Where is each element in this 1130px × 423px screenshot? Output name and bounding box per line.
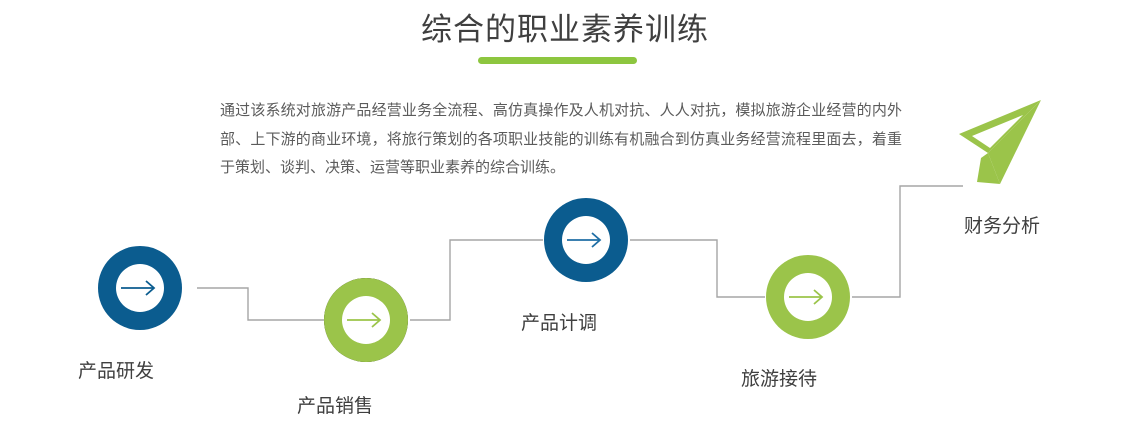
- flow-node-product-sales[interactable]: [324, 278, 408, 362]
- arrow-right-icon: [324, 278, 408, 362]
- flow-node-label-product-sales: 产品销售: [297, 394, 373, 418]
- flow-node-product-rd[interactable]: [98, 246, 182, 330]
- arrow-right-icon: [766, 255, 850, 339]
- connector-2-to-3: [410, 240, 543, 320]
- flow-node-financial-analysis[interactable]: [955, 96, 1051, 188]
- flow-node-product-planning[interactable]: [544, 198, 628, 282]
- flow-node-label-tour-reception: 旅游接待: [741, 367, 817, 391]
- connector-4-to-5: [852, 186, 963, 297]
- flow-node-label-financial-analysis: 财务分析: [964, 214, 1040, 238]
- process-flow-diagram: 产品研发 产品销售: [0, 0, 1130, 423]
- flow-node-label-product-planning: 产品计调: [521, 311, 597, 335]
- flow-node-label-product-rd: 产品研发: [78, 359, 154, 383]
- arrow-right-icon: [544, 198, 628, 282]
- arrow-right-icon: [98, 246, 182, 330]
- connector-3-to-4: [630, 240, 765, 297]
- paper-plane-icon: [955, 96, 1051, 188]
- flow-node-tour-reception[interactable]: [766, 255, 850, 339]
- connector-1-to-2: [197, 288, 324, 320]
- slide-canvas: 综合的职业素养训练 通过该系统对旅游产品经营业务全流程、高仿真操作及人机对抗、人…: [0, 0, 1130, 423]
